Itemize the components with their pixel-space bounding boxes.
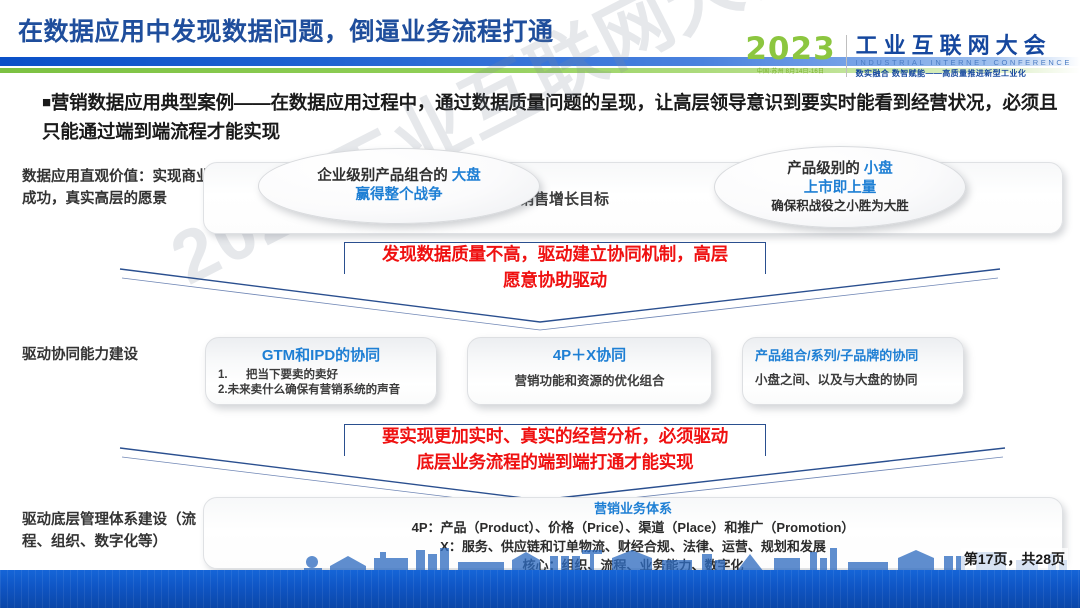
- logo-divider: [846, 35, 847, 77]
- logo-title-cn: 工业互联网大会: [856, 33, 1072, 58]
- card-product-portfolio: 产品组合/系列/子品牌的协同 小盘之间、以及与大盘的协同: [742, 337, 964, 405]
- row3-line1: 4P：产品（Product）、价格（Price）、渠道（Place）和推广（Pr…: [243, 518, 1023, 537]
- card-gtm-body: 1.把当下要卖的卖好 2.未来卖什么确保有营销系统的声音: [218, 368, 424, 398]
- card-4p-x: 4P＋X协同 营销功能和资源的优化组合: [467, 337, 712, 405]
- ellipse-left-line2: 赢得整个战争: [356, 186, 443, 205]
- callout2-line1: 要实现更加实时、真实的经营分析，必须驱动: [275, 423, 835, 449]
- industrial-skyline-graphic: [270, 544, 1080, 572]
- ellipse-card-big-plate: 企业级别产品组合的 大盘 赢得整个战争: [258, 148, 540, 224]
- bullet-text: 营销数据应用典型案例——在数据应用过程中，通过数据质量问题的呈现，让高层领导意识…: [42, 92, 1057, 142]
- bullet-paragraph: ■营销数据应用典型案例——在数据应用过程中，通过数据质量问题的呈现，让高层领导意…: [42, 88, 1062, 146]
- row-label-foundation: 驱动底层管理体系建设（流程、组织、数字化等）: [22, 509, 212, 553]
- callout1-line2: 愿意协助驱动: [275, 267, 835, 293]
- ellipse-left-line1: 企业级别产品组合的 大盘: [317, 167, 481, 186]
- logo-text-block: 工业互联网大会 INDUSTRIAL INTERNET CONFERENCE 数…: [856, 33, 1072, 79]
- ellipse-left-line1-plain: 企业级别产品组合的: [317, 168, 452, 184]
- row-label-value: 数据应用直观价值：实现商业成功，真实高层的愿景: [22, 166, 212, 210]
- slide-canvas: 在数据应用中发现数据问题，倒逼业务流程打通 2023 中国·苏州 8月14日-1…: [0, 0, 1080, 608]
- card-gtm-title: GTM和IPD的协同: [218, 346, 424, 365]
- ellipse-card-small-plate: 产品级别的 小盘 上市即上量 确保积战役之小胜为大胜: [714, 146, 966, 228]
- card-gtm-item1-number: 1.: [218, 368, 246, 383]
- card-gtm-item1-text: 把当下要卖的卖好: [246, 369, 338, 381]
- card-gtm-ipd: GTM和IPD的协同 1.把当下要卖的卖好 2.未来卖什么确保有营销系统的声音: [205, 337, 437, 405]
- ellipse-left-line1-highlight: 大盘: [452, 168, 481, 184]
- card-product-body: 小盘之间、以及与大盘的协同: [755, 373, 951, 388]
- card-4px-title: 4P＋X协同: [480, 346, 699, 365]
- card-4px-body: 营销功能和资源的优化组合: [480, 374, 699, 389]
- page-title: 在数据应用中发现数据问题，倒逼业务流程打通: [18, 12, 554, 48]
- callout2: 要实现更加实时、真实的经营分析，必须驱动 底层业务流程的端到端打通才能实现: [275, 423, 835, 475]
- conference-logo: 2023 中国·苏州 8月14日-16日 工业互联网大会 INDUSTRIAL …: [745, 33, 1072, 79]
- card-gtm-item1: 1.把当下要卖的卖好: [218, 368, 424, 383]
- logo-year: 2023: [745, 33, 835, 65]
- callout1-line1: 发现数据质量不高，驱动建立协同机制，高层: [275, 241, 835, 267]
- logo-title-en: INDUSTRIAL INTERNET CONFERENCE: [856, 58, 1072, 68]
- page-number: 第17页，共28页: [961, 548, 1068, 570]
- ellipse-right-line1-highlight: 小盘: [864, 161, 893, 177]
- callout1: 发现数据质量不高，驱动建立协同机制，高层 愿意协助驱动: [275, 241, 835, 293]
- callout2-line2: 底层业务流程的端到端打通才能实现: [275, 449, 835, 475]
- card-product-title: 产品组合/系列/子品牌的协同: [755, 346, 951, 365]
- row3-title: 营销业务体系: [243, 500, 1023, 518]
- logo-year-block: 2023 中国·苏州 8月14日-16日: [745, 33, 845, 75]
- ellipse-right-line3: 确保积战役之小胜为大胜: [771, 198, 909, 215]
- ellipse-right-line1-plain: 产品级别的: [787, 161, 864, 177]
- bullet-marker: ■: [42, 94, 51, 111]
- logo-slogan: 数实融合 数智赋能——高质量推进新型工业化: [856, 68, 1072, 79]
- card-gtm-item2: 2.未来卖什么确保有营销系统的声音: [218, 383, 424, 398]
- logo-year-subtitle: 中国·苏州 8月14日-16日: [745, 66, 835, 75]
- row-label-drive: 驱动协同能力建设: [22, 344, 212, 366]
- ellipse-right-line2: 上市即上量: [804, 179, 877, 198]
- ellipse-right-line1: 产品级别的 小盘: [787, 160, 893, 179]
- footer-band: [0, 570, 1080, 608]
